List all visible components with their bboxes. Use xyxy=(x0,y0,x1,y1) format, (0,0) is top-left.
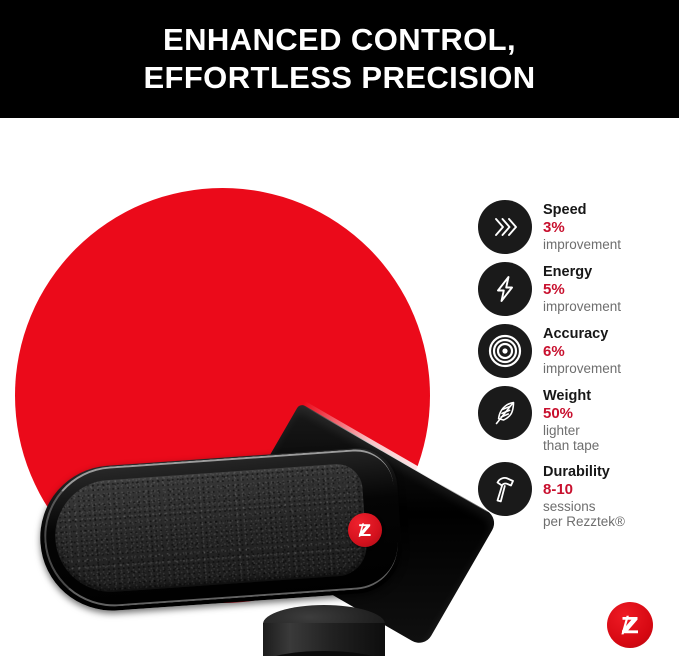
header-banner: ENHANCED CONTROL, EFFORTLESS PRECISION xyxy=(0,0,679,118)
feature-description: improvement xyxy=(543,361,621,377)
feature-title: Accuracy xyxy=(543,326,621,343)
feature-description: lighter than tape xyxy=(543,423,599,455)
speed-chevrons-icon xyxy=(478,200,532,254)
rezztek-grip-tape-pad xyxy=(51,462,368,595)
energy-bolt-icon xyxy=(478,262,532,316)
feature-value: 3% xyxy=(543,219,621,237)
feature-row-durability: Durability 8-10 sessions per Rezztek® xyxy=(478,462,674,530)
feature-description: improvement xyxy=(543,237,621,253)
feature-row-speed: Speed 3% improvement xyxy=(478,200,674,254)
feature-row-energy: Energy 5% improvement xyxy=(478,262,674,316)
feature-text-speed: Speed 3% improvement xyxy=(543,200,621,252)
feature-value: 5% xyxy=(543,281,621,299)
durability-hammer-icon xyxy=(478,462,532,516)
product-scene xyxy=(0,118,470,656)
feature-value: 6% xyxy=(543,343,621,361)
speed-chevrons-glyph xyxy=(489,211,521,243)
header-title-line-2: EFFORTLESS PRECISION xyxy=(143,59,535,97)
feature-title: Durability xyxy=(543,464,625,481)
feature-description: sessions per Rezztek® xyxy=(543,499,625,531)
feature-value: 50% xyxy=(543,405,599,423)
z-logo-glyph xyxy=(615,610,645,640)
feature-text-weight: Weight 50% lighter than tape xyxy=(543,386,599,454)
infographic-page: ENHANCED CONTROL, EFFORTLESS PRECISION xyxy=(0,0,679,656)
feature-value: 8-10 xyxy=(543,481,625,499)
feature-text-durability: Durability 8-10 sessions per Rezztek® xyxy=(543,462,625,530)
feature-row-accuracy: Accuracy 6% improvement xyxy=(478,324,674,378)
feature-title: Speed xyxy=(543,202,621,219)
weight-feather-icon xyxy=(478,386,532,440)
blade-z-logo xyxy=(348,513,382,547)
feature-text-energy: Energy 5% improvement xyxy=(543,262,621,314)
feature-title: Energy xyxy=(543,264,621,281)
feature-title: Weight xyxy=(543,388,599,405)
feature-row-weight: Weight 50% lighter than tape xyxy=(478,386,674,454)
feature-description: improvement xyxy=(543,299,621,315)
rezztek-corner-logo xyxy=(607,602,653,648)
z-logo-glyph xyxy=(354,519,376,541)
accuracy-target-icon xyxy=(478,324,532,378)
durability-hammer-glyph xyxy=(489,473,521,505)
accuracy-target-glyph xyxy=(488,334,522,368)
header-title-line-1: ENHANCED CONTROL, xyxy=(163,21,516,59)
weight-feather-glyph xyxy=(489,397,521,429)
feature-benefit-list: Speed 3% improvement Energy 5% improveme… xyxy=(478,200,674,538)
energy-bolt-glyph xyxy=(489,273,521,305)
feature-text-accuracy: Accuracy 6% improvement xyxy=(543,324,621,376)
